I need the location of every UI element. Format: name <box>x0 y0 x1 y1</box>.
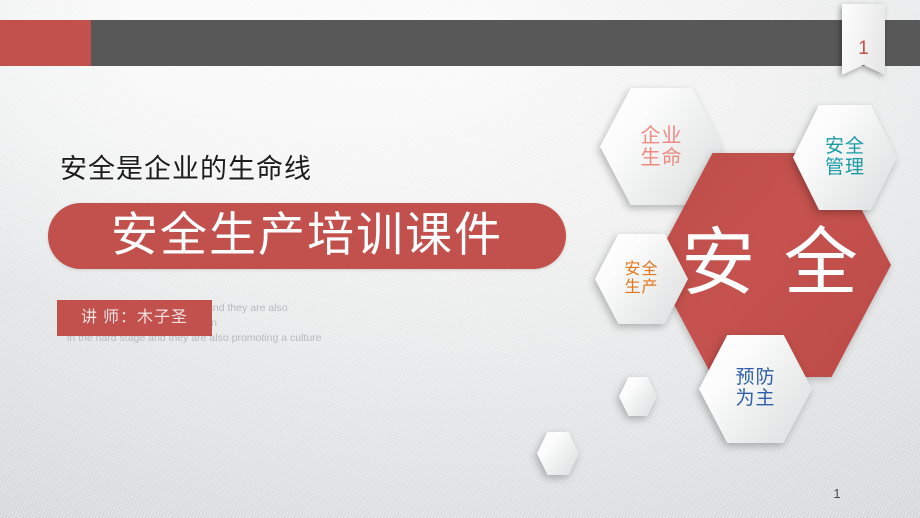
bookmark-ribbon-shape: 1 <box>842 4 885 75</box>
page-title: 安全生产培训课件 <box>48 209 566 263</box>
bookmark-ribbon-number: 1 <box>842 39 885 58</box>
hexagon-shape: 安全 生产 <box>595 234 688 324</box>
presenter-name: 讲 师：木子圣 <box>57 308 212 328</box>
hexagon-shape <box>537 432 579 475</box>
hexagon-safe-production[interactable]: 安全 生产 <box>595 234 688 324</box>
hexagon-prevention-first[interactable]: 预防 为主 <box>699 335 812 443</box>
hexagon-shape: 安全 管理 <box>793 105 897 210</box>
hexagon-label-safety-management: 安全 管理 <box>825 137 865 179</box>
header-gray-bar <box>91 20 920 66</box>
presentation-slide: 1 安全是企业的生命线 安全生产培训课件 nger remain in the … <box>0 0 920 518</box>
hexagon-shape <box>619 377 657 416</box>
hexagon-safety-management[interactable]: 安全 管理 <box>793 105 897 210</box>
slide-subtitle: 安全是企业的生命线 <box>60 147 312 186</box>
hexagon-label-core-safety: 安 全 <box>681 224 863 305</box>
hexagon-shape: 预防 为主 <box>699 335 812 443</box>
presenter-banner: 讲 师：木子圣 <box>57 300 212 336</box>
header-red-block <box>0 20 91 66</box>
page-number: 1 <box>826 486 848 501</box>
bookmark-ribbon: 1 <box>842 4 885 75</box>
hexagon-label-prevention-first: 预防 为主 <box>735 368 775 410</box>
slide-title-pill: 安全生产培训课件 <box>48 203 566 269</box>
decorative-hexagon-1 <box>619 377 657 416</box>
hexagon-label-safe-production: 安全 生产 <box>624 261 658 296</box>
decorative-hexagon-2 <box>537 432 579 475</box>
